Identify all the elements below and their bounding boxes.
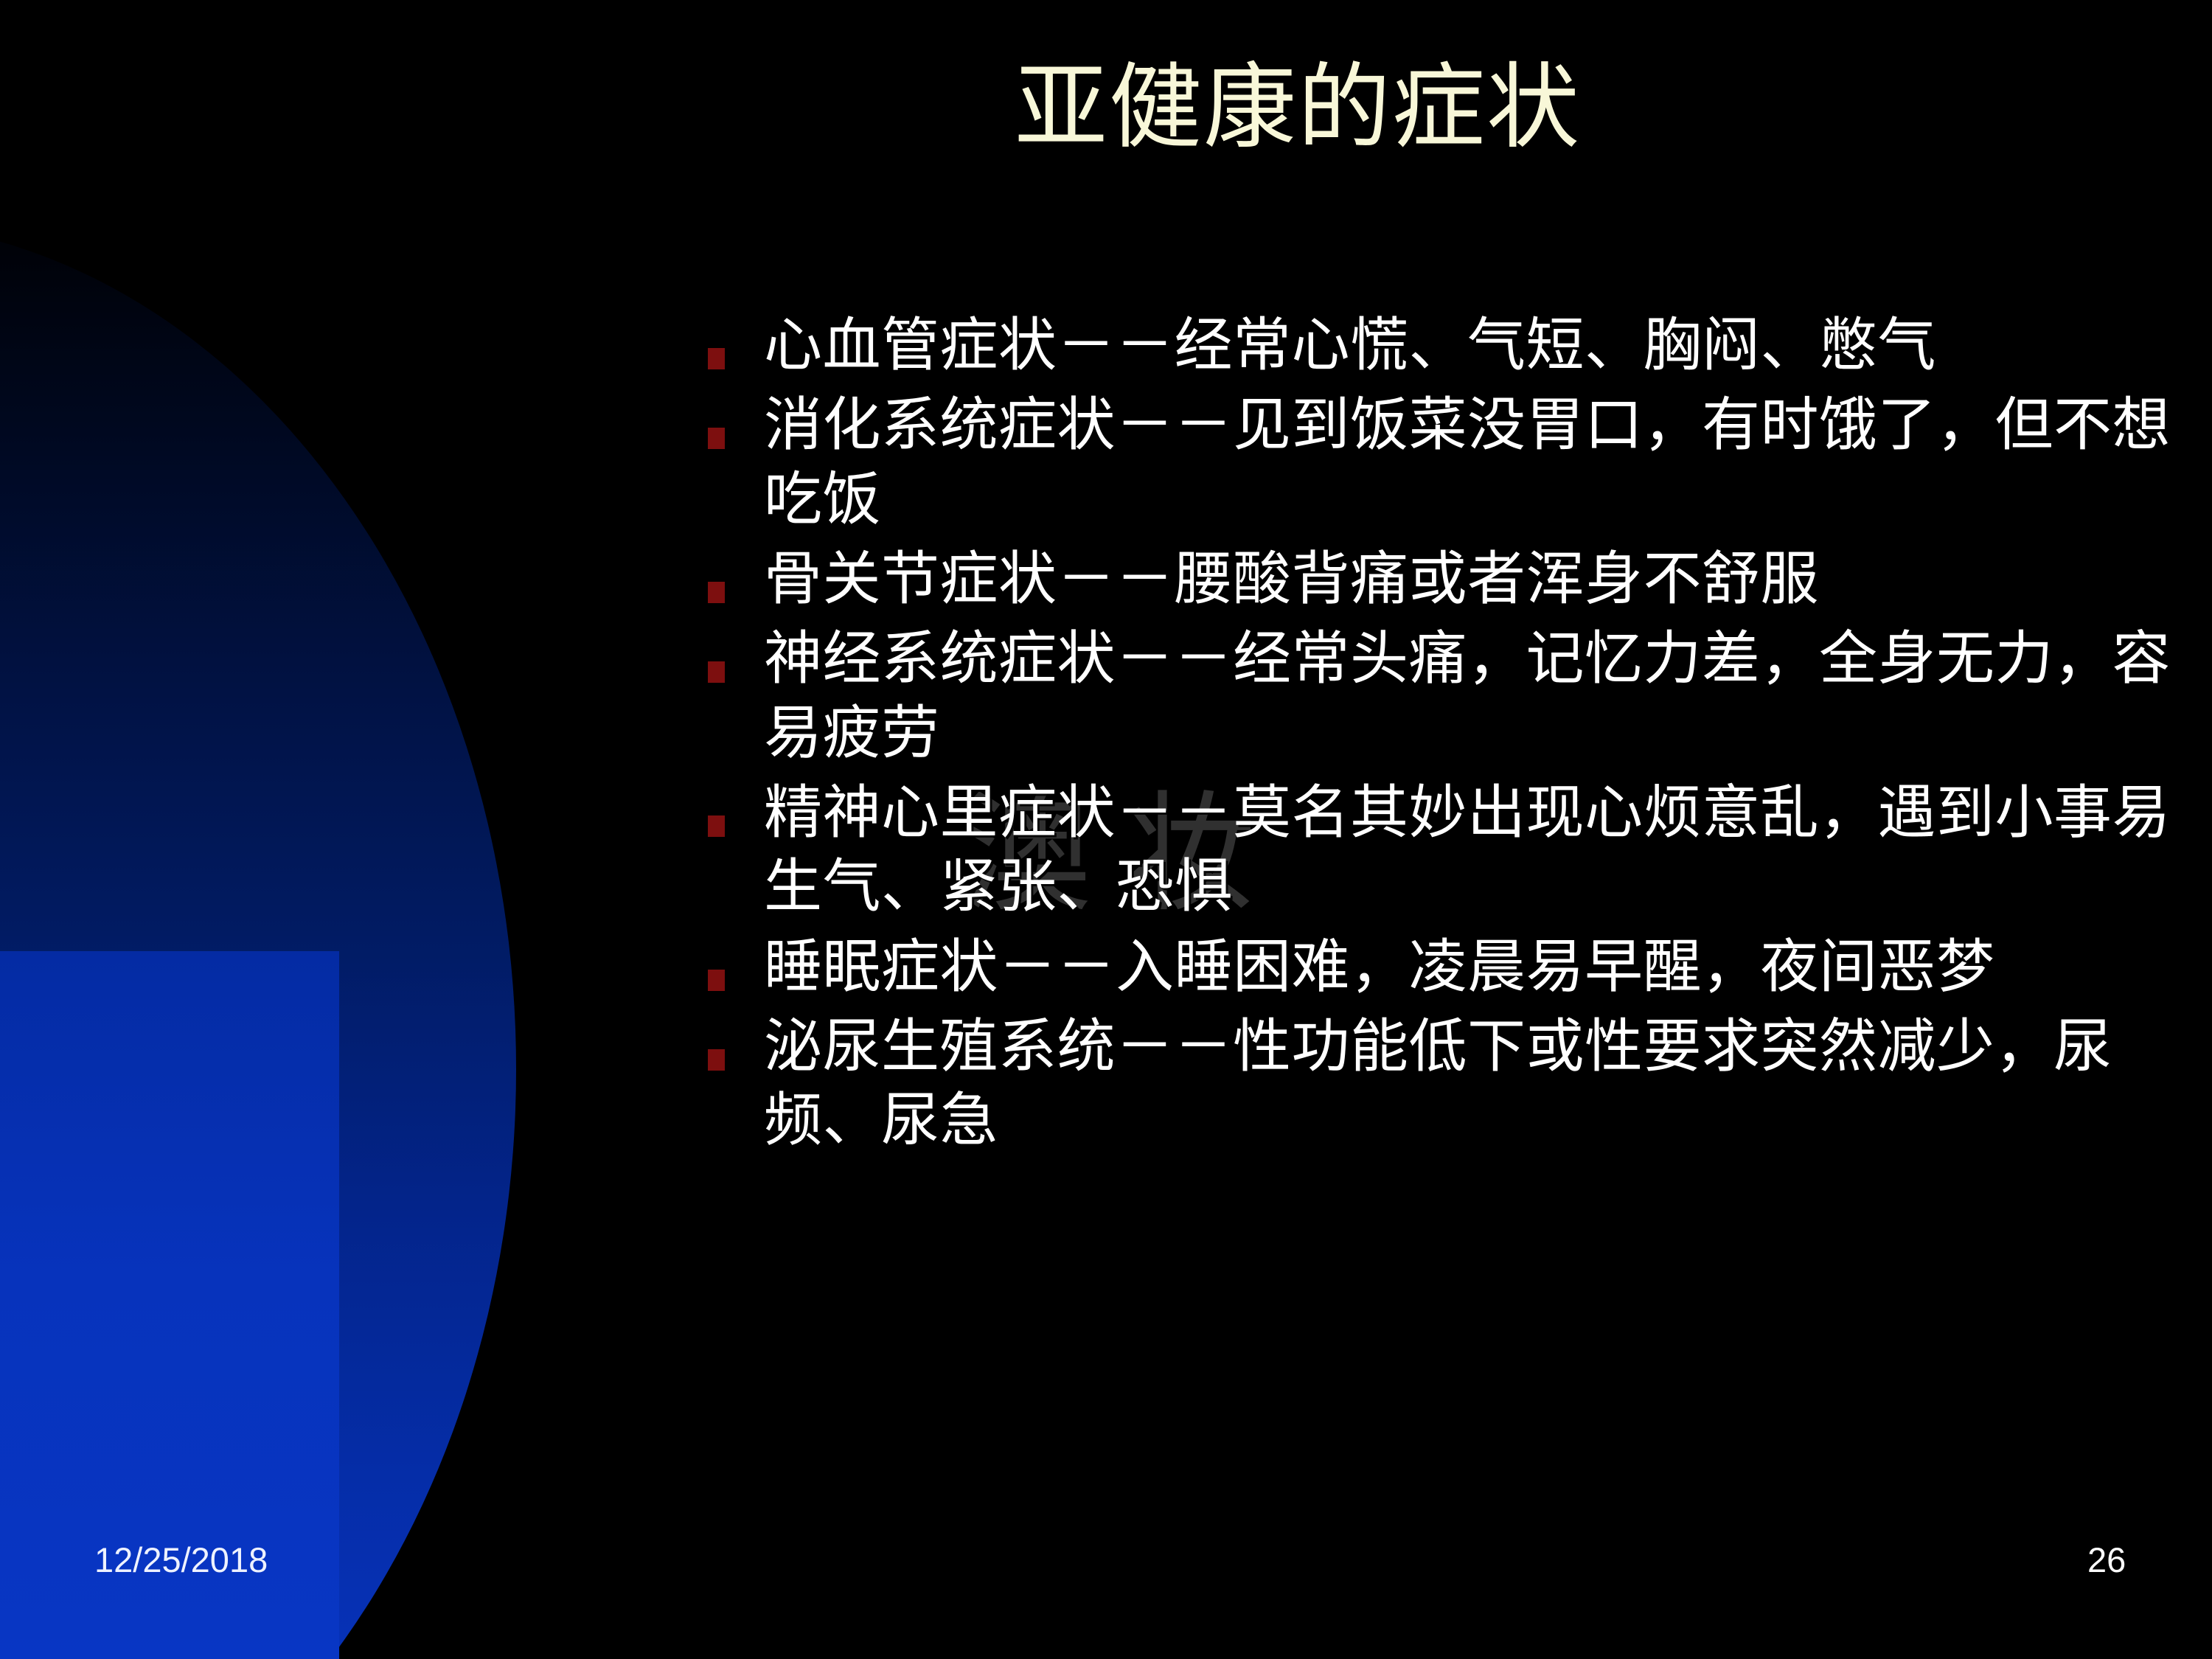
square-bullet-icon xyxy=(708,970,725,991)
list-item-label: 神经系统症状－－经常头痛，记忆力差，全身无力，容易疲劳 xyxy=(764,622,2190,770)
list-item: 泌尿生殖系统－－性功能低下或性要求突然减少，尿频、尿急 xyxy=(708,1009,2190,1158)
footer-page-number: 26 xyxy=(2087,1540,2126,1580)
square-bullet-icon xyxy=(708,582,725,603)
list-item-label: 骨关节症状－－腰酸背痛或者浑身不舒服 xyxy=(764,542,2190,616)
list-item-label: 精神心里症状－－莫名其妙出现心烦意乱，遇到小事易生气、紧张、恐惧 xyxy=(764,776,2190,924)
footer-date: 12/25/2018 xyxy=(94,1540,268,1580)
square-bullet-icon xyxy=(708,428,725,449)
list-item: 神经系统症状－－经常头痛，记忆力差，全身无力，容易疲劳 xyxy=(708,622,2190,770)
list-item-label: 睡眠症状－－入睡困难，凌晨易早醒，夜间恶梦 xyxy=(764,930,2190,1004)
list-item: 消化系统症状－－见到饭菜没胃口，有时饿了，但不想吃饭 xyxy=(708,388,2190,536)
square-bullet-icon xyxy=(708,348,725,369)
list-item-label: 泌尿生殖系统－－性功能低下或性要求突然减少，尿频、尿急 xyxy=(764,1009,2190,1158)
square-bullet-icon xyxy=(708,661,725,683)
blue-curve-decoration xyxy=(0,221,516,1659)
square-bullet-icon xyxy=(708,1049,725,1071)
page-title: 亚健康的症状 xyxy=(531,55,2065,159)
bullet-list: 心血管症状－－经常心慌、气短、胸闷、憋气 消化系统症状－－见到饭菜没胃口，有时饿… xyxy=(708,308,2190,1164)
list-item: 睡眠症状－－入睡困难，凌晨易早醒，夜间恶梦 xyxy=(708,930,2190,1004)
list-item: 骨关节症状－－腰酸背痛或者浑身不舒服 xyxy=(708,542,2190,616)
list-item-label: 心血管症状－－经常心慌、气短、胸闷、憋气 xyxy=(764,308,2190,382)
list-item: 心血管症状－－经常心慌、气短、胸闷、憋气 xyxy=(708,308,2190,382)
list-item-label: 消化系统症状－－见到饭菜没胃口，有时饿了，但不想吃饭 xyxy=(764,388,2190,536)
presentation-slide: 亚健康的症状 澳妆 心血管症状－－经常心慌、气短、胸闷、憋气 消化系统症状－－见… xyxy=(0,0,2212,1659)
square-bullet-icon xyxy=(708,815,725,837)
list-item: 精神心里症状－－莫名其妙出现心烦意乱，遇到小事易生气、紧张、恐惧 xyxy=(708,776,2190,924)
